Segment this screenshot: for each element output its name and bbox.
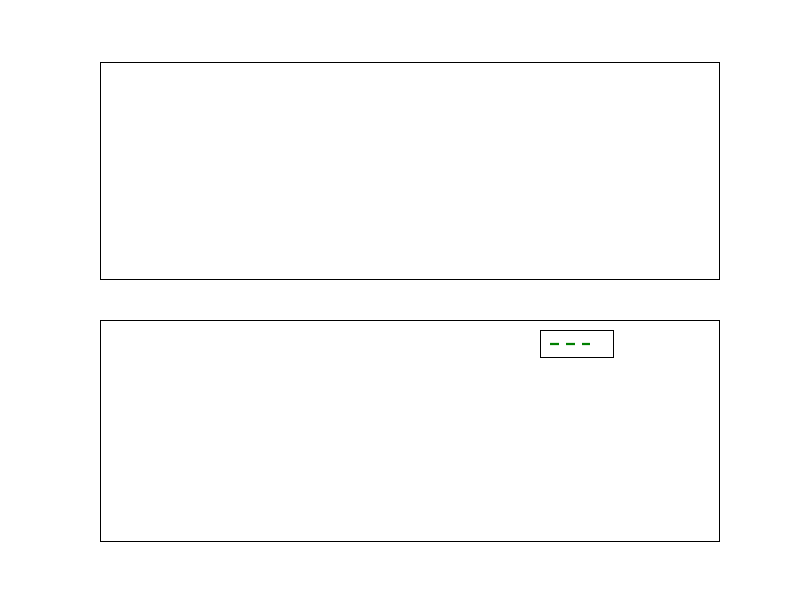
bottom-panel-axes	[100, 320, 720, 542]
figure-canvas	[0, 0, 800, 600]
bottom-panel-plot-area	[101, 321, 719, 541]
legend-box[interactable]	[540, 330, 614, 358]
top-panel-axes	[100, 62, 720, 280]
mag-limit-line-icon	[549, 337, 591, 351]
top-panel-plot-area	[101, 63, 719, 279]
